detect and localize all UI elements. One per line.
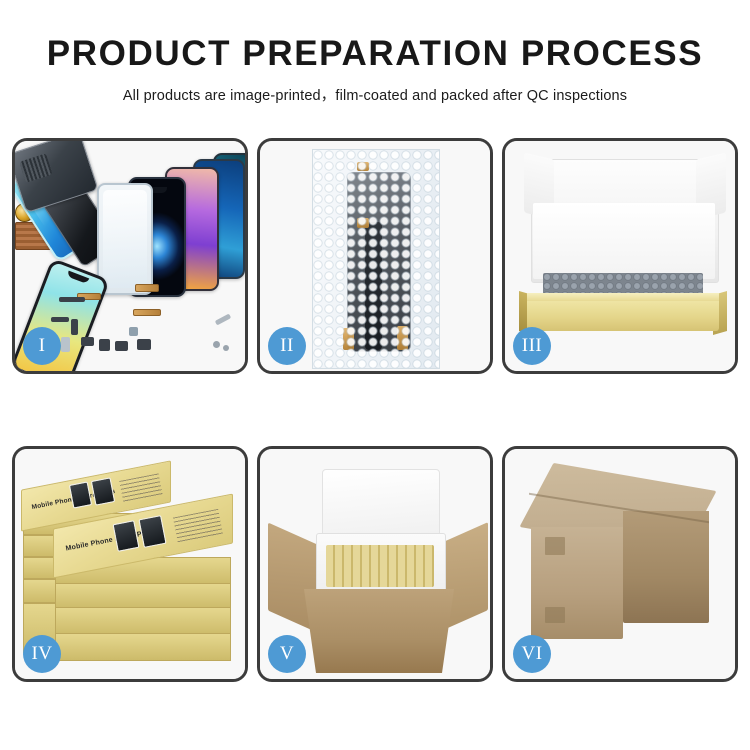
step-badge-6: VI [513, 635, 551, 673]
component-icon [115, 341, 128, 351]
component-icon [137, 339, 151, 350]
printed-box-lid: Mobile Phone Spare Parts [53, 511, 233, 561]
screw-icon [213, 341, 220, 348]
carton-side-face [623, 511, 709, 623]
foam-cooler-lid-icon [322, 469, 440, 539]
bubble-wrap-bag-icon [312, 149, 440, 369]
stacked-box [55, 633, 231, 659]
step-panel-3: III [502, 138, 738, 374]
step-panel-5: V [257, 446, 493, 682]
page-subtitle: All products are image-printed，film-coat… [0, 84, 750, 105]
inner-boxes-icon [326, 545, 434, 587]
component-icon [129, 327, 138, 336]
step-badge-2: II [268, 327, 306, 365]
screw-icon [223, 345, 229, 351]
step-badge-3: III [513, 327, 551, 365]
step-panel-4: Mobile Phone Spare Parts Mobile Phone Sp… [12, 446, 248, 682]
screwdriver-icon [215, 314, 231, 326]
step-panel-1: I [12, 138, 248, 374]
box-front-face [527, 301, 719, 331]
step-panel-6: VI [502, 446, 738, 682]
step-badge-1: I [23, 327, 61, 365]
step-badge-4: IV [23, 635, 61, 673]
page-title: PRODUCT PREPARATION PROCESS [0, 36, 750, 73]
process-step-grid: I II [12, 138, 738, 682]
bubble-texture [313, 150, 439, 368]
component-icon [61, 337, 70, 352]
flex-cable-icon [133, 309, 161, 316]
stacked-box [55, 583, 231, 607]
tempered-glass-icon [97, 183, 153, 295]
carton-tape-icon [545, 607, 565, 623]
component-icon [59, 297, 85, 302]
step-badge-5: V [268, 635, 306, 673]
component-icon [51, 317, 69, 322]
carton-tape-icon [545, 537, 565, 555]
carton-body-icon [304, 589, 454, 673]
component-icon [99, 339, 110, 351]
flex-cable-icon [135, 284, 159, 292]
component-icon [81, 337, 94, 346]
product-preparation-page: PRODUCT PREPARATION PROCESS All products… [0, 0, 750, 750]
stacked-box [55, 607, 231, 633]
foam-sheet-icon [533, 203, 715, 279]
page-header: PRODUCT PREPARATION PROCESS All products… [0, 36, 750, 105]
step-panel-2: II [257, 138, 493, 374]
component-icon [71, 319, 78, 335]
